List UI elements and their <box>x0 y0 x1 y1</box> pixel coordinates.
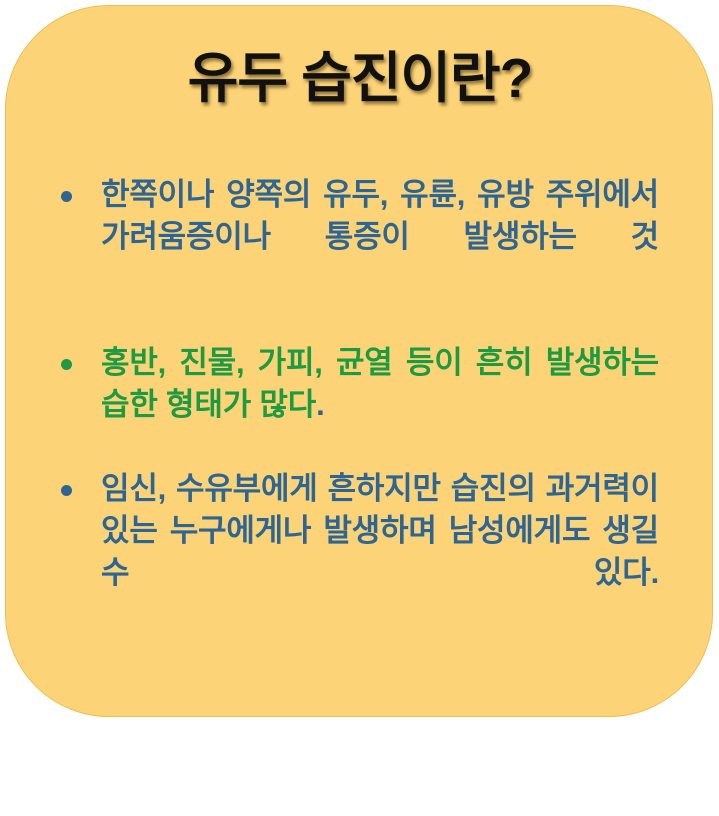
round-bullet-icon <box>61 359 72 370</box>
list-item: 홍반, 진물, 가피, 균열 등이 흔히 발생하는 습한 형태가 많다. <box>6 342 713 426</box>
round-bullet-icon <box>61 485 72 496</box>
page-title: 유두 습진이란? <box>6 48 713 110</box>
list-item-trailing-punctuation: . <box>316 387 324 422</box>
list-item-label: 홍반, 진물, 가피, 균열 등이 흔히 발생하는 습한 형태가 많다. <box>101 342 659 426</box>
list-item: 임신, 수유부에게 흔하지만 습진의 과거력이 있는 누구에게나 발생하며 남성… <box>6 468 713 636</box>
list-item: 한쪽이나 양쪽의 유두, 유륜, 유방 주위에서 가려움증이나 통증이 발생하는… <box>6 174 713 300</box>
list-item-text: 홍반, 진물, 가피, 균열 등이 흔히 발생하는 습한 형태가 많다 <box>101 345 659 422</box>
list-item-label: 한쪽이나 양쪽의 유두, 유륜, 유방 주위에서 가려움증이나 통증이 발생하는… <box>101 174 659 300</box>
list-item-label: 임신, 수유부에게 흔하지만 습진의 과거력이 있는 누구에게나 발생하며 남성… <box>101 468 659 636</box>
round-bullet-icon <box>61 191 72 202</box>
slide-card: 유두 습진이란? 한쪽이나 양쪽의 유두, 유륜, 유방 주위에서 가려움증이나… <box>5 5 713 717</box>
bullet-list: 한쪽이나 양쪽의 유두, 유륜, 유방 주위에서 가려움증이나 통증이 발생하는… <box>6 174 713 636</box>
